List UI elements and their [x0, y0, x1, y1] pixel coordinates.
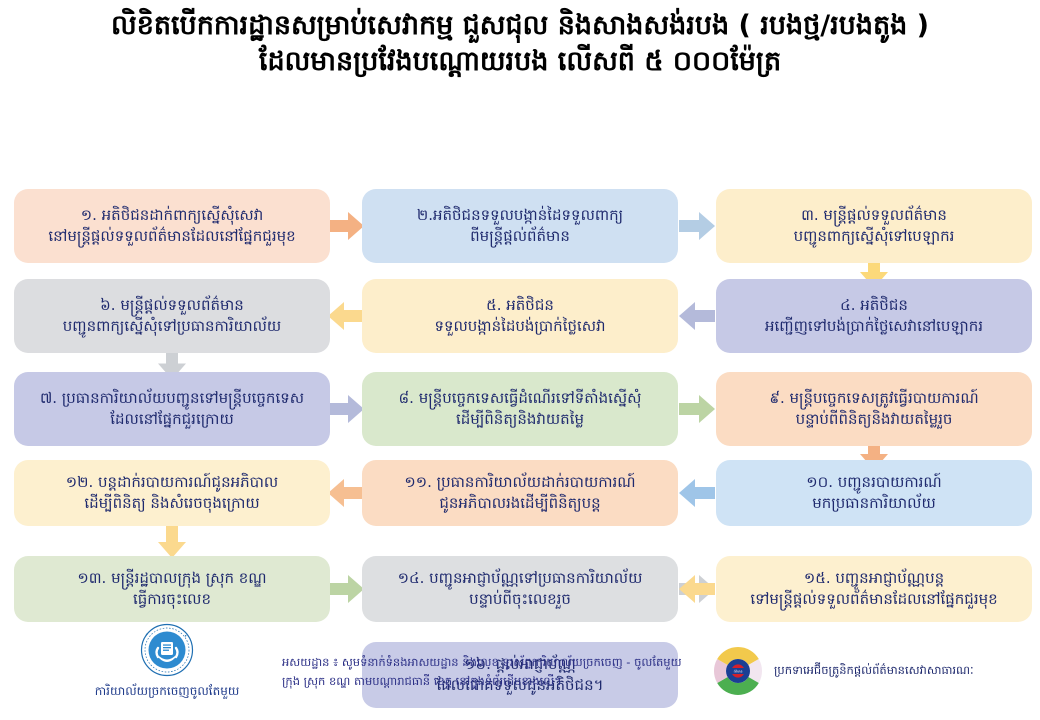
arrow-2-to-3 — [679, 212, 715, 240]
arrow-7-to-8 — [328, 395, 364, 423]
arrow-1-to-2 — [328, 212, 364, 240]
flow-node-5[interactable]: ៥. អតិថិជនទទួលបង្កាន់ដៃបង់ប្រាក់ថ្លៃសេវា — [362, 279, 678, 353]
flow-node-3[interactable]: ៣. មន្ត្រីផ្តល់ទទួលព័ត៌មានបញ្ជូនពាក្យស្ន… — [716, 189, 1032, 263]
e-service-portal-caption: ប្រកទាអេជ៊ីចត្រូនិកផ្តល់ព័ត៌មានសេវាសាធារ… — [774, 663, 974, 680]
flow-node-label: ១១. ប្រធានការិយាល័យដាក់របាយការណ៍ជូនអភិបា… — [372, 472, 668, 514]
arrow-10-to-11 — [679, 479, 715, 507]
flow-node-10[interactable]: ១០. បញ្ជូនរបាយការណ៍មកប្រធានការិយាល័យ — [716, 460, 1032, 526]
flow-node-label: ៧. ប្រធានការិយាល័យបញ្ជូនទៅមន្ត្រីបច្ចេកទ… — [24, 388, 320, 430]
flow-node-label: ៦. មន្ត្រីផ្តល់ទទួលព័ត៌មានបញ្ជូនពាក្យស្ន… — [24, 295, 320, 337]
flow-node-label: ១. អតិថិជនដាក់ពាក្យស្នើសុំសេវានៅមន្ត្រីផ… — [24, 205, 320, 247]
flow-node-8[interactable]: ៨. មន្ត្រីបច្ចេកទេសធ្វើដំណើរទៅទីតាំងស្នើ… — [362, 372, 678, 446]
flow-node-label: ៣. មន្ត្រីផ្តល់ទទួលព័ត៌មានបញ្ជូនពាក្យស្ន… — [726, 205, 1022, 247]
one-window-service-caption: ការិយាល័យច្រកចេញចូលតែមួយ — [62, 683, 272, 701]
title-line-2: ដែលមានប្រវែងបណ្តោយរបង លើសពី ៥ ០០០ម៉ែត្រ — [20, 44, 1020, 80]
flow-node-2[interactable]: ២.អតិថិជនទទួលបង្កាន់ដៃទទួលពាក្យពីមន្ត្រី… — [362, 189, 678, 263]
flow-node-4[interactable]: ៤. អតិថិជនអញ្ជើញទៅបង់ប្រាក់ថ្លៃសេវានៅបេឡ… — [716, 279, 1032, 353]
one-window-service-logo-wrap: ★ ★ ការិយាល័យច្រកចេញចូលតែមួយ — [62, 623, 272, 701]
flow-node-9[interactable]: ៩. មន្ត្រីបច្ចេកទេសត្រូវធ្វើរបាយការណ៍បន្… — [716, 372, 1032, 446]
flow-node-11[interactable]: ១១. ប្រធានការិយាល័យដាក់របាយការណ៍ជូនអភិបា… — [362, 460, 678, 526]
flow-node-label: ២.អតិថិជនទទួលបង្កាន់ដៃទទួលពាក្យពីមន្ត្រី… — [372, 205, 668, 247]
arrow-5-to-6 — [328, 302, 364, 330]
footer: ★ ★ ការិយាល័យច្រកចេញចូលតែមួយ អសយដ្ឋាន ៖ … — [0, 545, 1040, 720]
title-line-1: លិខិតបើកការដ្ឋានសម្រាប់សេវាកម្ម ជួសជុល ន… — [20, 8, 1020, 44]
flow-node-label: ១០. បញ្ជូនរបាយការណ៍មកប្រធានការិយាល័យ — [726, 472, 1022, 514]
flow-node-7[interactable]: ៧. ប្រធានការិយាល័យបញ្ជូនទៅមន្ត្រីបច្ចេកទ… — [14, 372, 330, 446]
flow-node-6[interactable]: ៦. មន្ត្រីផ្តល់ទទួលព័ត៌មានបញ្ជូនពាក្យស្ន… — [14, 279, 330, 353]
one-window-service-logo-icon: ★ ★ — [62, 623, 272, 677]
flow-node-12[interactable]: ១២. បន្តដាក់របាយការណ៍ជូនអភិបាលដើម្បីពិនិ… — [14, 460, 330, 526]
arrow-4-to-5 — [679, 302, 715, 330]
page-title: លិខិតបើកការដ្ឋានសម្រាប់សេវាកម្ម ជួសជុល ន… — [0, 0, 1040, 84]
e-service-portal-logo-icon: ព័ត៌មាន — [712, 645, 764, 697]
arrow-11-to-12 — [328, 479, 364, 507]
arrow-8-to-9 — [679, 395, 715, 423]
flow-node-label: ៨. មន្ត្រីបច្ចេកទេសធ្វើដំណើរទៅទីតាំងស្នើ… — [372, 388, 668, 430]
flow-node-label: ១២. បន្តដាក់របាយការណ៍ជូនអភិបាលដើម្បីពិនិ… — [24, 472, 320, 514]
footer-address-note: អសយដ្ឋាន ៖ សូមទំនាក់ទំនងអាសយដ្ឋាន និងលេខ… — [282, 653, 682, 691]
flow-node-1[interactable]: ១. អតិថិជនដាក់ពាក្យស្នើសុំសេវានៅមន្ត្រីផ… — [14, 189, 330, 263]
flow-node-label: ៩. មន្ត្រីបច្ចេកទេសត្រូវធ្វើរបាយការណ៍បន្… — [726, 388, 1022, 430]
svg-text:ព័ត៌មាន: ព័ត៌មាន — [734, 670, 743, 674]
flow-node-label: ៥. អតិថិជនទទួលបង្កាន់ដៃបង់ប្រាក់ថ្លៃសេវា — [372, 295, 668, 337]
e-service-logo-wrap: ព័ត៌មាន ប្រកទាអេជ៊ីចត្រូនិកផ្តល់ព័ត៌មានស… — [712, 645, 974, 697]
flow-node-label: ៤. អតិថិជនអញ្ជើញទៅបង់ប្រាក់ថ្លៃសេវានៅបេឡ… — [726, 295, 1022, 337]
